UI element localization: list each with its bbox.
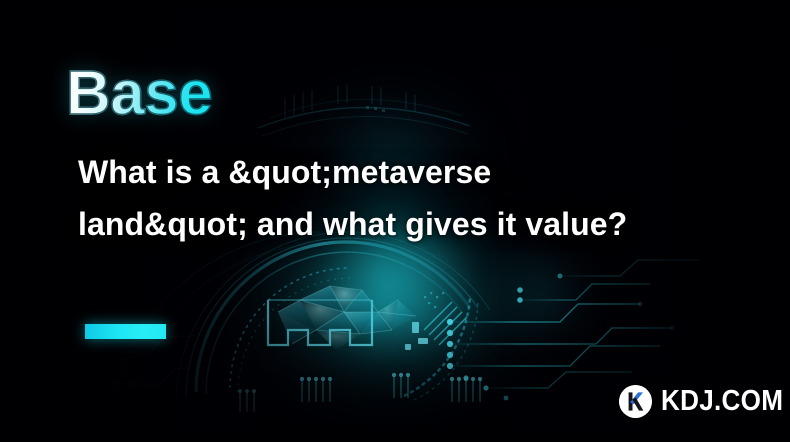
card-content: Base What is a &quot;metaverse land&quot… — [0, 0, 790, 442]
accent-underline-bar — [85, 324, 166, 339]
logo-badge-icon — [619, 385, 652, 418]
logo-wordmark: KDJ.COM — [661, 387, 783, 416]
logo-k-glyph — [619, 385, 652, 418]
brand-title: Base — [66, 63, 212, 125]
article-hero-card: Base What is a &quot;metaverse land&quot… — [0, 0, 790, 442]
site-logo[interactable]: KDJ.COM — [619, 385, 790, 418]
article-headline: What is a &quot;metaverse land&quot; and… — [78, 147, 648, 251]
